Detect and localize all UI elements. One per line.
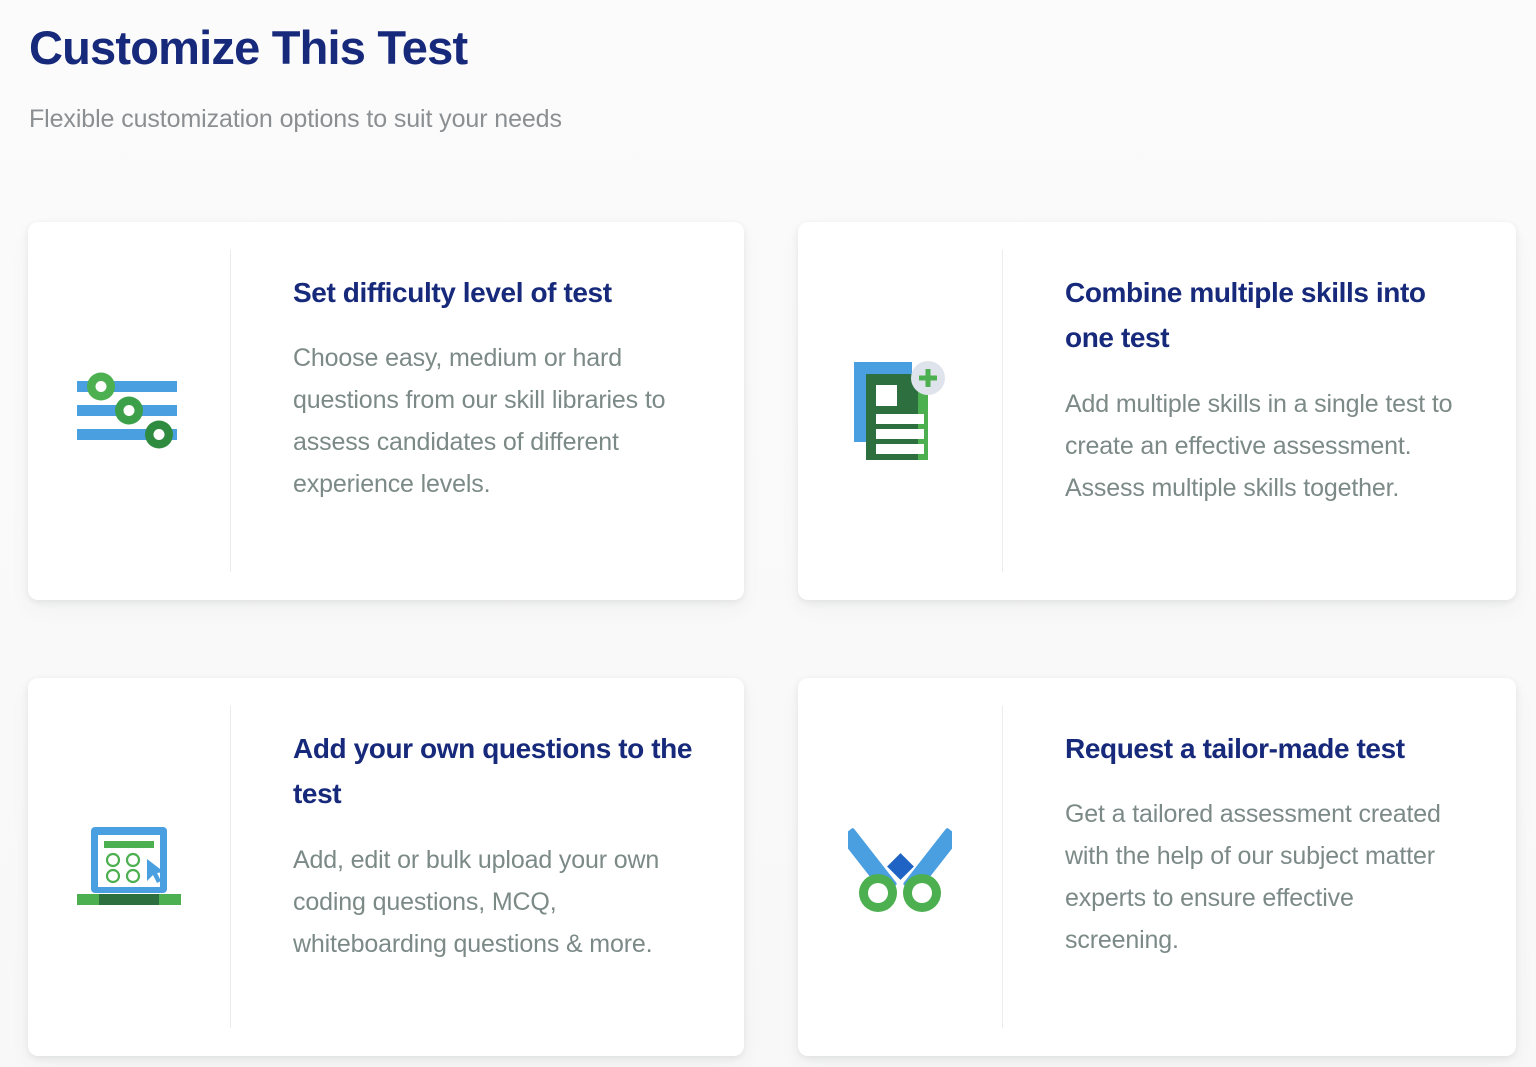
card-description: Get a tailored assessment created with t… xyxy=(1065,793,1472,961)
card-text-column: Add your own questions to the test Add, … xyxy=(231,706,720,1028)
card-description: Add multiple skills in a single test to … xyxy=(1065,383,1472,509)
difficulty-sliders-icon xyxy=(69,361,189,461)
feature-card-add-questions[interactable]: Add your own questions to the test Add, … xyxy=(28,678,744,1056)
feature-card-set-difficulty[interactable]: Set difficulty level of test Choose easy… xyxy=(28,222,744,600)
card-icon-column xyxy=(28,706,231,1028)
card-title: Set difficulty level of test xyxy=(293,270,700,315)
laptop-questions-icon xyxy=(69,817,189,917)
scissors-icon xyxy=(840,817,960,917)
card-text-column: Set difficulty level of test Choose easy… xyxy=(231,250,720,572)
section-header: Customize This Test Flexible customizati… xyxy=(0,0,1536,134)
card-title: Request a tailor-made test xyxy=(1065,726,1472,771)
card-description: Add, edit or bulk upload your own coding… xyxy=(293,839,700,965)
page-subtitle: Flexible customization options to suit y… xyxy=(29,104,1536,134)
page-title: Customize This Test xyxy=(29,22,1536,75)
feature-card-tailor-made[interactable]: Request a tailor-made test Get a tailore… xyxy=(798,678,1516,1056)
customize-test-section: Customize This Test Flexible customizati… xyxy=(0,0,1536,1067)
feature-card-combine-skills[interactable]: Combine multiple skills into one test Ad… xyxy=(798,222,1516,600)
feature-card-grid: Set difficulty level of test Choose easy… xyxy=(28,222,1518,1056)
card-icon-column xyxy=(798,250,1003,572)
card-icon-column xyxy=(28,250,231,572)
card-description: Choose easy, medium or hard questions fr… xyxy=(293,337,700,505)
card-text-column: Request a tailor-made test Get a tailore… xyxy=(1003,706,1492,1028)
card-text-column: Combine multiple skills into one test Ad… xyxy=(1003,250,1492,572)
add-document-icon xyxy=(840,361,960,461)
card-title: Combine multiple skills into one test xyxy=(1065,270,1472,361)
card-title: Add your own questions to the test xyxy=(293,726,700,817)
card-icon-column xyxy=(798,706,1003,1028)
